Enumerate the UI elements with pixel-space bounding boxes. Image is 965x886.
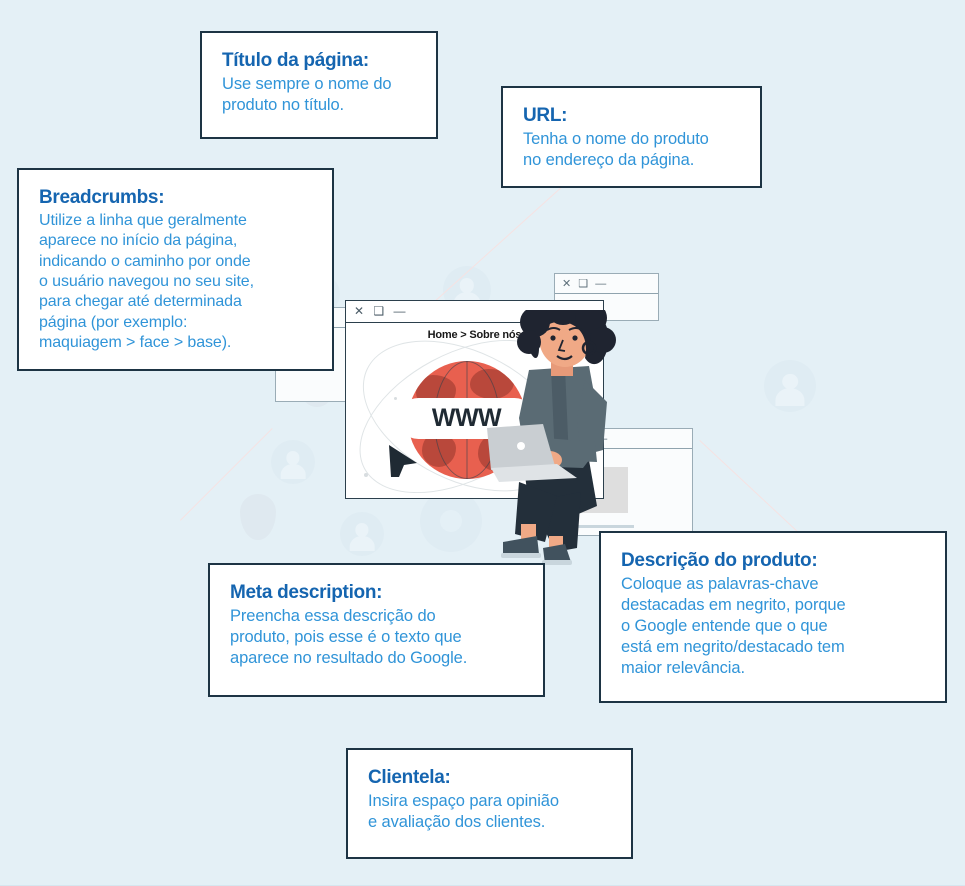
callout-title: Título da página: [222, 49, 418, 72]
orbit-dot-decoration [394, 397, 397, 400]
callout-body: Preencha essa descrição do produto, pois… [230, 606, 525, 668]
callout-breadcrumbs: Breadcrumbs: Utilize a linha que geralme… [17, 168, 334, 371]
callout-title: Breadcrumbs: [39, 186, 314, 209]
window-controls: ✕ ❑ — [555, 274, 658, 294]
callout-url: URL: Tenha o nome do produto no endereço… [501, 86, 762, 188]
callout-body: Tenha o nome do produto no endereço da p… [523, 129, 742, 171]
callout-title: Meta description: [230, 581, 525, 604]
callout-meta-description: Meta description: Preencha essa descriçã… [208, 563, 545, 697]
person-watermark-icon [764, 360, 816, 412]
infographic-canvas: ✕ ❑ — ✕ ❑ — ✕ ❑ — ✕ ❑ — Home > Sobre nós [0, 0, 965, 886]
callout-title: URL: [523, 104, 742, 127]
callout-descricao-do-produto: Descrição do produto: Coloque as palavra… [599, 531, 947, 703]
callout-titulo-da-pagina: Título da página: Use sempre o nome do p… [200, 31, 438, 139]
callout-title: Clientela: [368, 766, 613, 789]
orbit-dot-decoration [364, 473, 368, 477]
cursor-arrow-icon [387, 439, 423, 479]
callout-body: Utilize a linha que geralmente aparece n… [39, 211, 314, 353]
callout-body: Insira espaço para opinião e avaliação d… [368, 791, 613, 833]
callout-clientela: Clientela: Insira espaço para opinião e … [346, 748, 633, 859]
callout-body: Coloque as palavras-chave destacadas em … [621, 574, 927, 679]
callout-body: Use sempre o nome do produto no título. [222, 74, 418, 116]
callout-title: Descrição do produto: [621, 549, 927, 572]
